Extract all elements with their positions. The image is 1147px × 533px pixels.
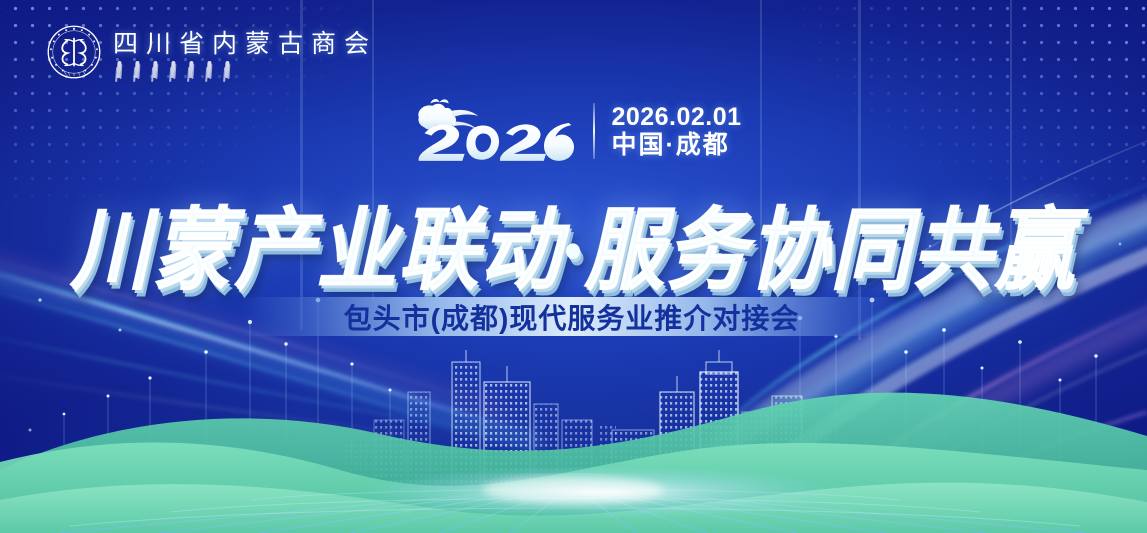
hill-back (0, 393, 1147, 533)
event-date: 2026.02.01 (611, 105, 741, 130)
year-date-block: 2026.02.01 中国·成都 (0, 96, 1147, 166)
event-banner: 四川省内蒙古商会 (0, 0, 1147, 533)
hill-front (0, 483, 1147, 533)
event-date-location: 2026.02.01 中国·成都 (611, 104, 741, 158)
chamber-logo-lockup: 四川省内蒙古商会 (46, 22, 377, 81)
city-base-glow (360, 466, 840, 518)
hill-mid (0, 442, 1147, 533)
event-location: 中国·成都 (611, 133, 741, 158)
chamber-emblem-icon (46, 24, 102, 80)
chamber-name-cn: 四川省内蒙古商会 (113, 24, 377, 60)
year-date-divider (593, 103, 595, 159)
year-numerals (419, 123, 574, 161)
city-core-hotspot (483, 476, 663, 504)
page-title: 川蒙产业联动·服务协同共赢 (0, 178, 1147, 308)
perspective-grid (53, 468, 1093, 533)
subtitle-band: 包头市(成都)现代服务业推介对接会 (243, 297, 900, 336)
year-2026-horse-logo (405, 96, 577, 166)
subtitle-text: 包头市(成都)现代服务业推介对接会 (344, 297, 800, 337)
chamber-name-mongolian (113, 61, 377, 81)
city-skyline (344, 340, 848, 492)
